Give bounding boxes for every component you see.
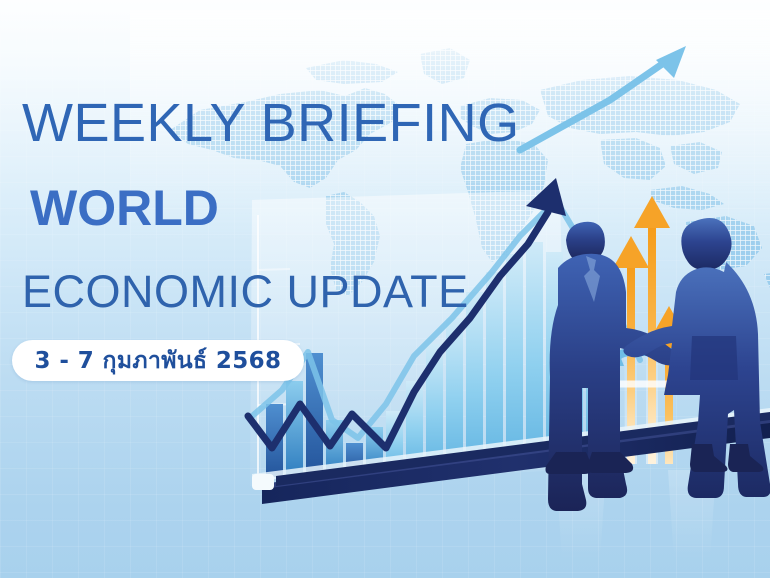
- businessman-figure: [546, 222, 681, 511]
- date-badge-label: 3 - 7 กุมภาพันธ์ 2568: [35, 343, 282, 379]
- headline-world: WORLD: [30, 183, 219, 233]
- date-badge: 3 - 7 กุมภาพันธ์ 2568: [12, 340, 304, 381]
- headline-weekly-briefing: WEEKLY BRIEFING: [22, 96, 520, 150]
- businesswoman-figure: [623, 218, 770, 498]
- headline-economic-update: ECONOMIC UPDATE: [22, 269, 469, 314]
- poster-canvas: WEEKLY BRIEFING WORLD ECONOMIC UPDATE 3 …: [0, 0, 770, 578]
